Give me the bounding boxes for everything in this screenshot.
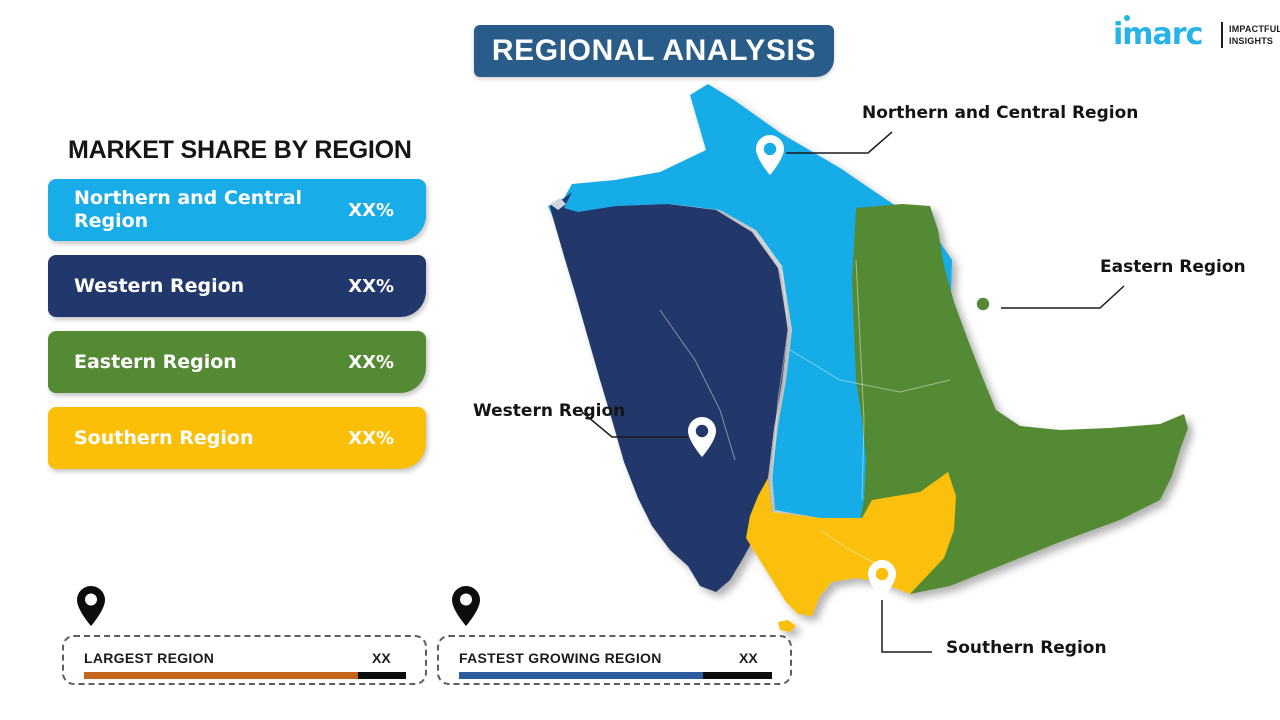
logo-divider [1221,22,1223,48]
location-pin-icon [76,586,106,626]
legend-item-value: XX% [348,200,394,221]
legend-item-label: Eastern Region [74,351,330,374]
map-label-north: Northern and Central Region [862,103,1138,123]
map-pin-eastern[interactable] [969,290,997,330]
legend-item-eastern[interactable]: Eastern Region XX% [48,331,426,393]
logo-tagline-line1: IMPACTFUL [1229,23,1280,35]
map-svg [520,80,1220,660]
legend-item-southern[interactable]: Southern Region XX% [48,407,426,469]
logo-wordmark: imarc [1113,20,1202,50]
largest-region-callout: LARGEST REGION XX [62,586,427,686]
region-map: Northern and Central Region Eastern Regi… [520,80,1220,660]
imarc-logo: imarc IMPACTFUL INSIGHTS [1113,12,1273,56]
page-title-banner: REGIONAL ANALYSIS [474,25,834,77]
legend-item-label: Northern and Central Region [74,187,330,233]
fastest-growing-region-callout: FASTEST GROWING REGION XX [437,586,792,686]
legend-item-label: Southern Region [74,427,330,450]
legend-item-northern-and-central[interactable]: Northern and Central Region XX% [48,179,426,241]
legend-list: Northern and Central Region XX% Western … [48,179,428,483]
legend-item-value: XX% [348,428,394,449]
legend-item-value: XX% [348,276,394,297]
map-label-west: Western Region [473,401,625,421]
map-label-east: Eastern Region [1100,257,1246,277]
legend-item-value: XX% [348,352,394,373]
fastest-growing-region-value: XX [739,650,758,666]
largest-region-value: XX [372,650,391,666]
leader-line-south [882,600,932,652]
map-label-south: Southern Region [946,638,1107,658]
location-pin-icon [451,586,481,626]
fastest-growing-region-label: FASTEST GROWING REGION [459,650,662,666]
legend-item-label: Western Region [74,275,330,298]
largest-region-label: LARGEST REGION [84,650,214,666]
legend-item-western[interactable]: Western Region XX% [48,255,426,317]
page-title: REGIONAL ANALYSIS [492,34,816,68]
map-pin-southern[interactable] [868,560,896,600]
largest-region-progress-track [84,672,406,679]
leader-line-east [1001,286,1124,308]
panel-title: MARKET SHARE BY REGION [68,136,412,165]
largest-region-progress-fill [84,672,358,679]
fastest-growing-region-progress-fill [459,672,703,679]
slide-root: imarc IMPACTFUL INSIGHTS REGIONAL ANALYS… [0,0,1280,720]
logo-tagline: IMPACTFUL INSIGHTS [1229,23,1280,47]
fastest-growing-region-progress-track [459,672,772,679]
logo-tagline-line2: INSIGHTS [1229,35,1280,47]
